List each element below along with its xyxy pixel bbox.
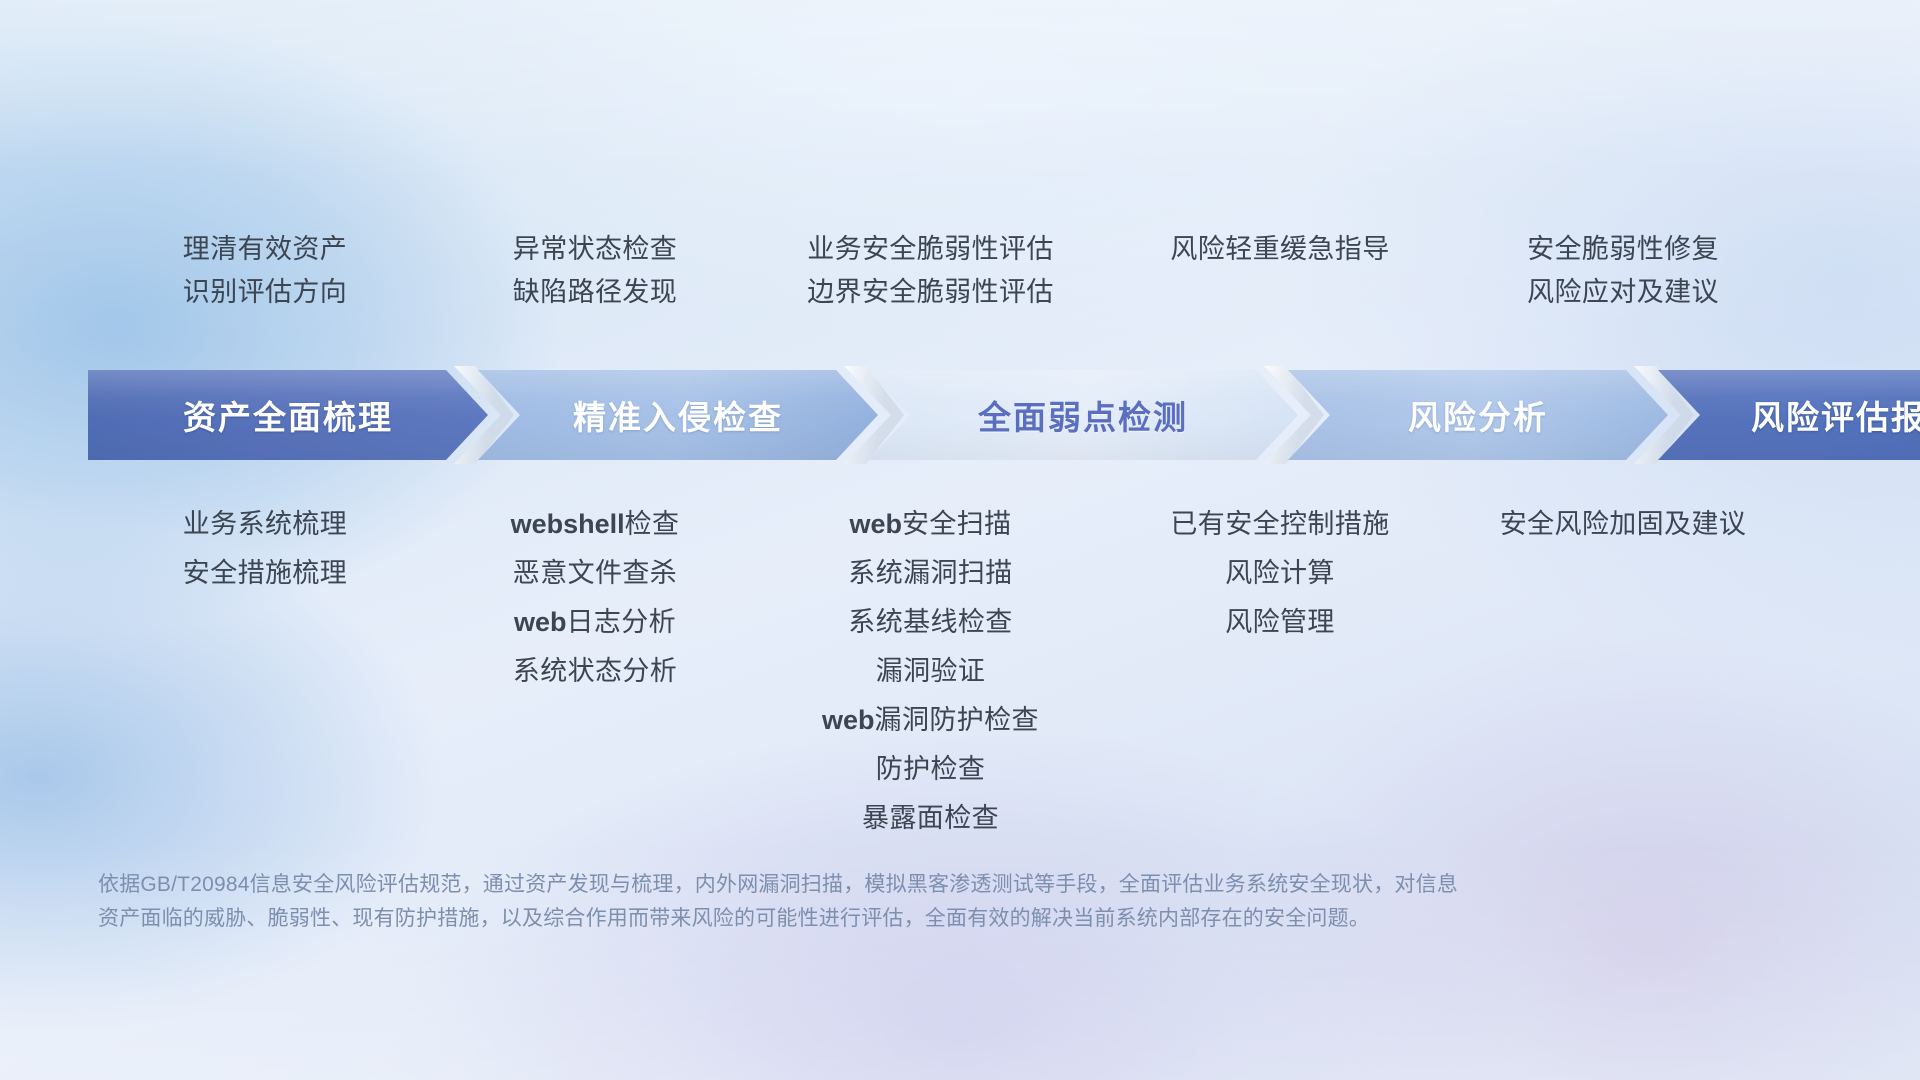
item-text: 检查	[625, 509, 680, 539]
chevron-label: 风险分析	[1408, 391, 1548, 439]
chevron-label: 资产全面梳理	[183, 391, 393, 439]
list-item: 恶意文件查杀	[445, 549, 745, 598]
list-item: 业务系统梳理	[100, 500, 430, 549]
top-notes-assessment-report: 安全脆弱性修复 风险应对及建议	[1458, 228, 1788, 348]
top-note: 安全脆弱性修复	[1458, 228, 1788, 271]
list-item: webshell检查	[445, 500, 745, 549]
item-text: 系统基线检查	[848, 607, 1012, 637]
slide-canvas: 理清有效资产 识别评估方向 异常状态检查 缺陷路径发现 业务安全脆弱性评估 边界…	[0, 0, 1920, 1080]
item-text: 防护检查	[876, 754, 986, 784]
list-item: web漏洞防护检查	[753, 696, 1108, 745]
item-lead: web	[822, 705, 875, 735]
item-text: 日志分析	[566, 607, 676, 637]
chevron-stage-weakness-detection[interactable]: 全面弱点检测	[868, 370, 1298, 460]
top-notes-weakness-detection: 业务安全脆弱性评估 边界安全脆弱性评估	[753, 228, 1108, 348]
footer-line: 资产面临的威胁、脆弱性、现有防护措施，以及综合作用而带来风险的可能性进行评估，全…	[98, 902, 1718, 936]
item-text: 暴露面检查	[862, 803, 999, 833]
bottom-items-risk-analysis: 已有安全控制措施 风险计算 风险管理	[1130, 500, 1430, 647]
top-notes-row: 理清有效资产 识别评估方向 异常状态检查 缺陷路径发现 业务安全脆弱性评估 边界…	[90, 228, 1850, 348]
list-item: 系统状态分析	[445, 647, 745, 696]
list-item: 风险计算	[1130, 549, 1430, 598]
list-item: web安全扫描	[753, 500, 1108, 549]
item-text: 系统漏洞扫描	[848, 558, 1012, 588]
list-item: 系统基线检查	[753, 598, 1108, 647]
top-note: 边界安全脆弱性评估	[753, 271, 1108, 314]
item-lead: web	[849, 509, 902, 539]
bottom-items-assessment-report: 安全风险加固及建议	[1458, 500, 1788, 549]
top-notes-asset-inventory: 理清有效资产 识别评估方向	[100, 228, 430, 348]
list-item: 风险管理	[1130, 598, 1430, 647]
item-text: 漏洞防护检查	[875, 705, 1039, 735]
list-item: web日志分析	[445, 598, 745, 647]
bottom-items-asset-inventory: 业务系统梳理 安全措施梳理	[100, 500, 430, 598]
chevron-label: 精准入侵检查	[573, 391, 783, 439]
item-text: 风险管理	[1225, 607, 1335, 637]
chevron-stage-assessment-report[interactable]: 风险评估报告	[1658, 370, 1920, 460]
bottom-items-weakness-detection: web安全扫描 系统漏洞扫描 系统基线检查 漏洞验证 web漏洞防护检查 防护检…	[753, 500, 1108, 843]
top-note: 业务安全脆弱性评估	[753, 228, 1108, 271]
list-item: 安全风险加固及建议	[1458, 500, 1788, 549]
footer-line: 依据GB/T20984信息安全风险评估规范，通过资产发现与梳理，内外网漏洞扫描，…	[98, 868, 1718, 902]
chevron-stage-intrusion-check[interactable]: 精准入侵检查	[478, 370, 878, 460]
list-item: 安全措施梳理	[100, 549, 430, 598]
item-text: 已有安全控制措施	[1170, 509, 1389, 539]
item-lead: webshell	[511, 509, 625, 539]
list-item: 漏洞验证	[753, 647, 1108, 696]
item-text: 系统状态分析	[513, 656, 677, 686]
chevron-label: 风险评估报告	[1751, 391, 1920, 439]
top-notes-intrusion-check: 异常状态检查 缺陷路径发现	[445, 228, 745, 348]
item-lead: web	[514, 607, 567, 637]
top-note: 风险应对及建议	[1458, 271, 1788, 314]
footer-description: 依据GB/T20984信息安全风险评估规范，通过资产发现与梳理，内外网漏洞扫描，…	[98, 868, 1718, 936]
item-text: 安全扫描	[902, 509, 1012, 539]
list-item: 已有安全控制措施	[1130, 500, 1430, 549]
list-item: 防护检查	[753, 745, 1108, 794]
item-text: 恶意文件查杀	[513, 558, 677, 588]
slide-content: 理清有效资产 识别评估方向 异常状态检查 缺陷路径发现 业务安全脆弱性评估 边界…	[0, 0, 1920, 1080]
top-note: 理清有效资产	[100, 228, 430, 271]
bottom-items-intrusion-check: webshell检查 恶意文件查杀 web日志分析 系统状态分析	[445, 500, 745, 696]
top-note: 异常状态检查	[445, 228, 745, 271]
top-note: 识别评估方向	[100, 271, 430, 314]
top-notes-risk-analysis: 风险轻重缓急指导	[1130, 228, 1430, 348]
chevron-stage-asset-inventory[interactable]: 资产全面梳理	[88, 370, 488, 460]
chevron-stage-risk-analysis[interactable]: 风险分析	[1288, 370, 1668, 460]
chevron-label: 全面弱点检测	[978, 391, 1188, 439]
bottom-items-row: 业务系统梳理 安全措施梳理 webshell检查 恶意文件查杀 web日志分析 …	[90, 500, 1850, 843]
item-text: 漏洞验证	[876, 656, 986, 686]
item-text: 安全措施梳理	[183, 558, 347, 588]
list-item: 暴露面检查	[753, 794, 1108, 843]
item-text: 业务系统梳理	[183, 509, 347, 539]
list-item: 系统漏洞扫描	[753, 549, 1108, 598]
item-text: 风险计算	[1225, 558, 1335, 588]
top-note: 风险轻重缓急指导	[1130, 228, 1430, 271]
top-note: 缺陷路径发现	[445, 271, 745, 314]
item-text: 安全风险加固及建议	[1500, 509, 1747, 539]
process-chevron-band: 资产全面梳理 精准入侵检查 全面弱点检测 风险分析 风险评估报告	[88, 370, 1854, 460]
